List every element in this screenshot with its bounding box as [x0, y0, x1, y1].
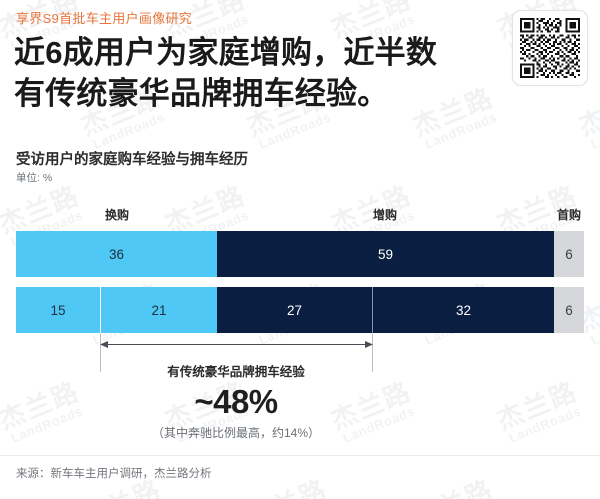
bracket-label: 有传统豪华品牌拥车经验 — [100, 361, 372, 380]
infographic-canvas: 杰兰路LandRoads杰兰路LandRoads杰兰路LandRoads杰兰路L… — [0, 0, 600, 499]
source-note: 来源：新车车主用户调研，杰兰路分析 — [16, 465, 212, 481]
bracket-note: （其中奔驰比例最高，约14%） — [100, 424, 372, 441]
qr-code-icon[interactable] — [512, 10, 588, 86]
stacked-bar-chart: 换购 增购 首购 36 59 6 15 21 27 32 6 有传统豪华品牌拥车… — [0, 0, 600, 499]
bracket-value: ~48% — [100, 383, 372, 421]
footer-divider — [0, 455, 600, 456]
